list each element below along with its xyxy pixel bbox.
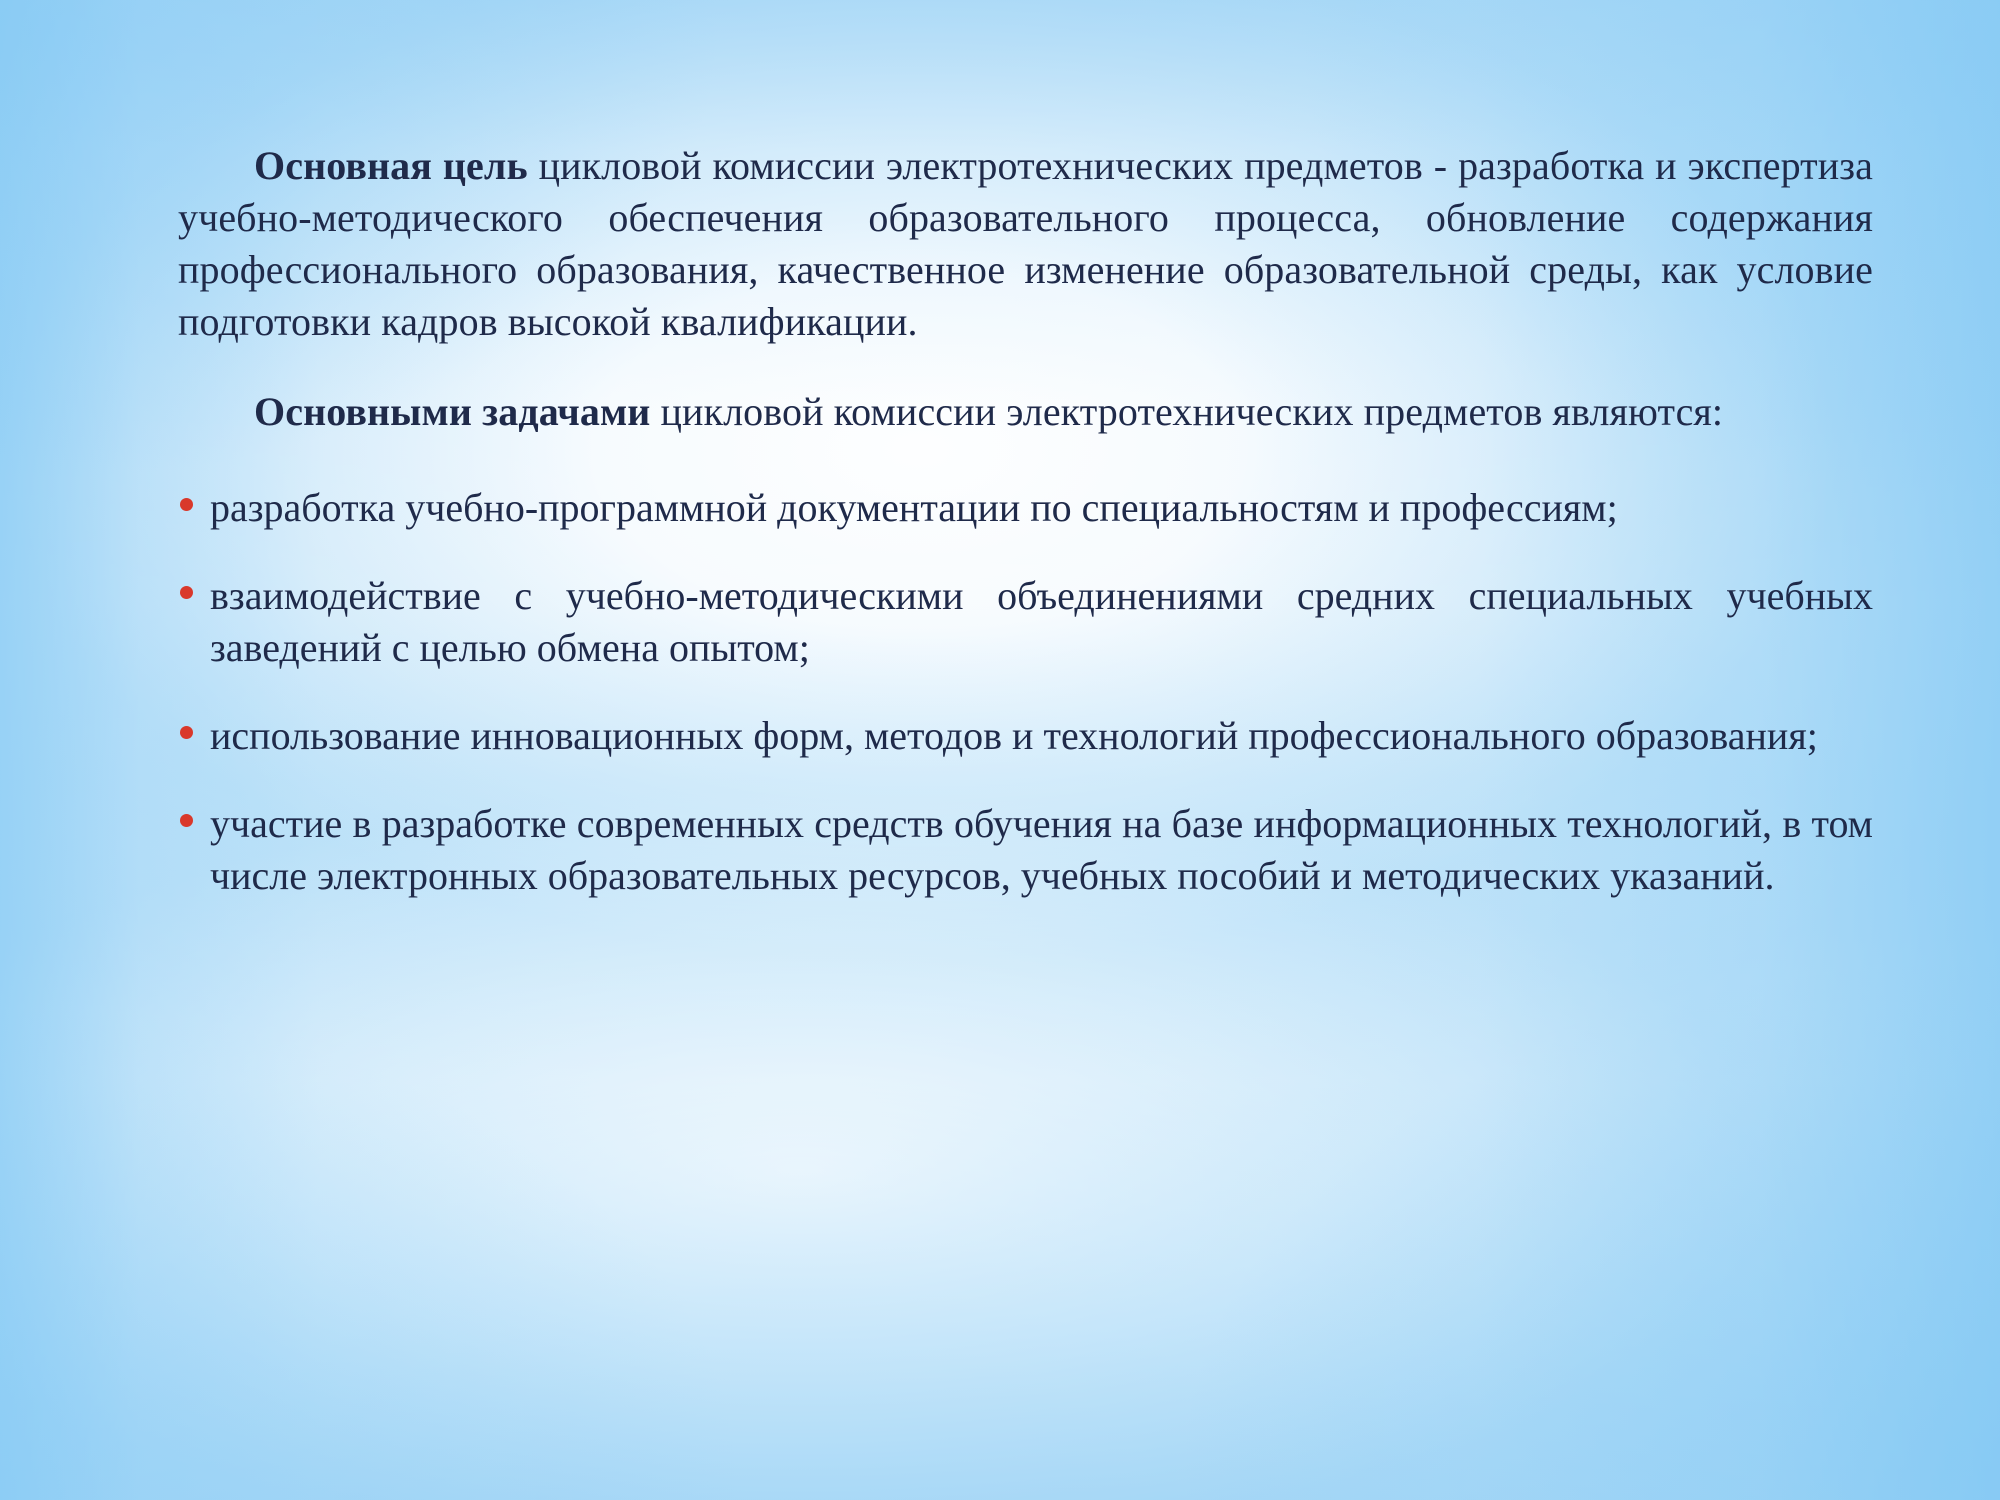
list-item-label: разработка учебно-программной документац… bbox=[210, 485, 1618, 530]
list-item-label: участие в разработке современных средств… bbox=[210, 801, 1873, 898]
bullet-dot-icon bbox=[180, 498, 193, 511]
list-item-label: использование инновационных форм, методо… bbox=[210, 713, 1818, 758]
bullet-dot-icon bbox=[180, 586, 193, 599]
slide-text-body: Основная цель цикловой комиссии электрот… bbox=[178, 140, 1873, 902]
paragraph-main-goal: Основная цель цикловой комиссии электрот… bbox=[178, 140, 1873, 348]
main-goal-lead-phrase: Основная цель bbox=[254, 143, 528, 188]
main-tasks-lead-phrase: Основными задачами bbox=[254, 389, 650, 434]
bullet-dot-icon bbox=[180, 814, 193, 827]
paragraph-main-tasks: Основными задачами цикловой комиссии эле… bbox=[178, 386, 1873, 438]
list-item: использование инновационных форм, методо… bbox=[178, 710, 1873, 762]
slide-canvas: Основная цель цикловой комиссии электрот… bbox=[0, 0, 2000, 1500]
bullet-dot-icon bbox=[180, 726, 193, 739]
main-tasks-text: цикловой комиссии электротехнических пре… bbox=[650, 389, 1723, 434]
list-item-label: взаимодействие с учебно-методическими об… bbox=[210, 573, 1873, 670]
list-item: взаимодействие с учебно-методическими об… bbox=[178, 570, 1873, 674]
list-item: разработка учебно-программной документац… bbox=[178, 482, 1873, 534]
list-item: участие в разработке современных средств… bbox=[178, 798, 1873, 902]
tasks-bullet-list: разработка учебно-программной документац… bbox=[178, 482, 1873, 902]
